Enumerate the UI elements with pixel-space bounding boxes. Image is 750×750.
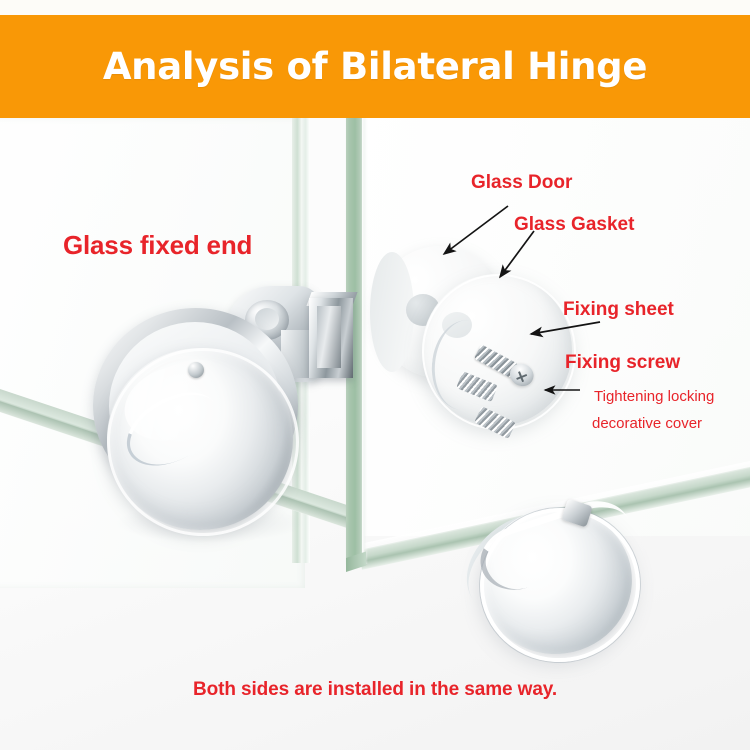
product-photo-area (0, 118, 750, 750)
footer-caption: Both sides are installed in the same way… (0, 679, 750, 701)
label-tightening-line2: decorative cover (592, 415, 702, 432)
infographic-canvas: Analysis of Bilateral Hinge (0, 0, 750, 750)
label-glass-gasket: Glass Gasket (514, 214, 634, 236)
cover-screw-icon (188, 362, 204, 378)
label-fixing-sheet: Fixing sheet (563, 299, 674, 321)
title-banner: Analysis of Bilateral Hinge (0, 15, 750, 118)
label-glass-door: Glass Door (471, 172, 572, 194)
hinge-assembly-door-side (370, 228, 690, 588)
hinge-clamp-face-icon (317, 306, 341, 368)
banner-top-margin (0, 0, 750, 15)
label-glass-fixed-end: Glass fixed end (63, 230, 252, 261)
hinge-pivot-inner-icon (255, 308, 279, 330)
hinge-assembly-fixed-side (85, 278, 385, 578)
page-title: Analysis of Bilateral Hinge (103, 45, 647, 88)
label-tightening-line1: Tightening locking (594, 388, 714, 405)
label-fixing-screw: Fixing screw (565, 352, 680, 374)
